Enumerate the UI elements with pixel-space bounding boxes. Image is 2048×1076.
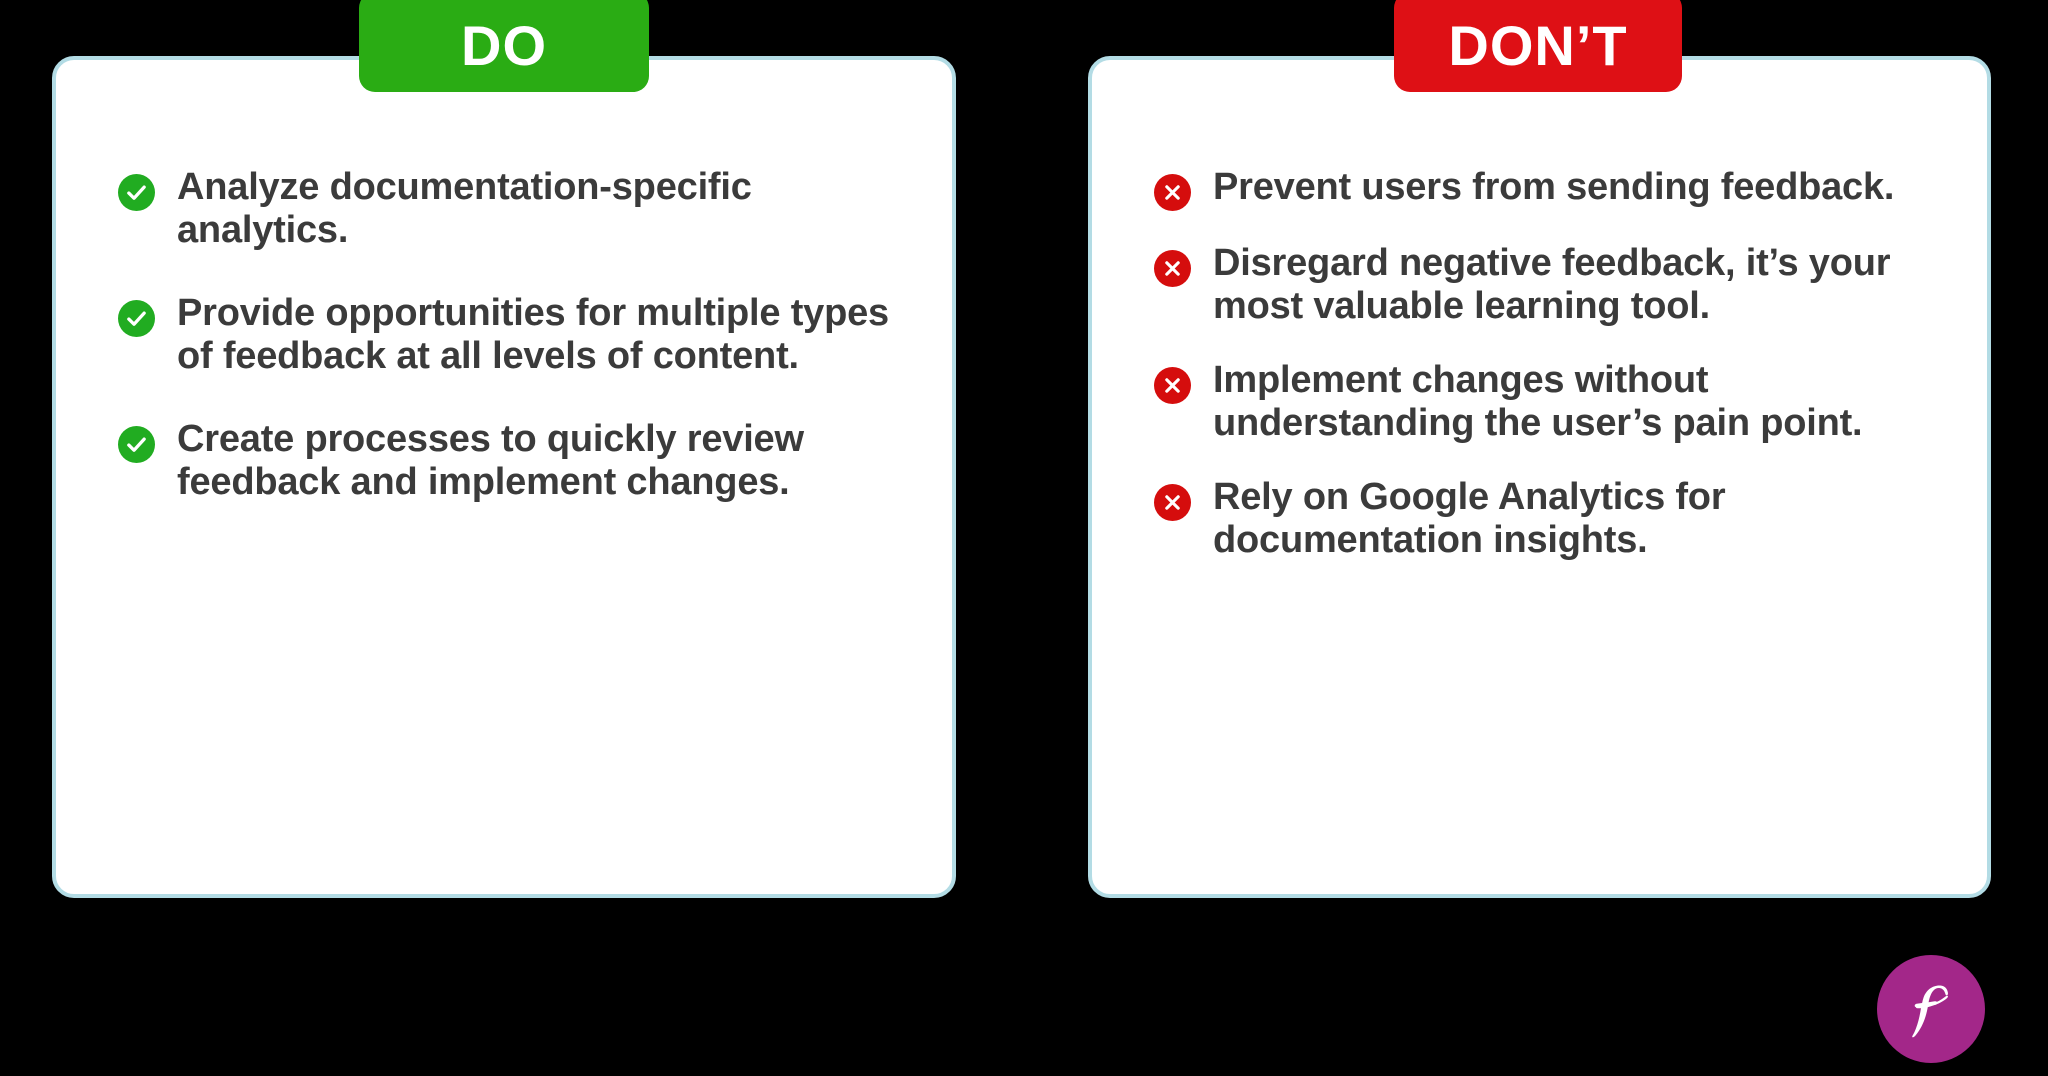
list-item: Disregard negative feedback, it’s your m… — [1154, 242, 1947, 328]
check-circle-icon — [118, 426, 155, 463]
list-item-label: Prevent users from sending feedback. — [1213, 166, 1894, 209]
list-item: Provide opportunities for multiple types… — [118, 292, 912, 378]
script-f-logo-icon — [1877, 955, 1985, 1063]
list-item-label: Provide opportunities for multiple types… — [177, 292, 897, 378]
list-item-label: Rely on Google Analytics for documentati… — [1213, 476, 1947, 562]
list-item: Create processes to quickly review feedb… — [118, 418, 912, 504]
list-item-label: Analyze documentation-specific analytics… — [177, 166, 897, 252]
list-item: Rely on Google Analytics for documentati… — [1154, 476, 1947, 562]
do-badge: DO — [359, 0, 649, 92]
list-item-label: Disregard negative feedback, it’s your m… — [1213, 242, 1947, 328]
x-circle-icon — [1154, 484, 1191, 521]
do-badge-label: DO — [461, 18, 547, 74]
do-card: Analyze documentation-specific analytics… — [52, 56, 956, 898]
dont-card: Prevent users from sending feedback. Dis… — [1088, 56, 1991, 898]
dont-badge-label: DON’T — [1448, 18, 1627, 74]
list-item: Prevent users from sending feedback. — [1154, 166, 1947, 211]
slide-canvas: Analyze documentation-specific analytics… — [0, 0, 2048, 1076]
list-item-label: Implement changes without understanding … — [1213, 359, 1947, 445]
x-circle-icon — [1154, 367, 1191, 404]
dont-badge: DON’T — [1394, 0, 1682, 92]
check-circle-icon — [118, 300, 155, 337]
x-circle-icon — [1154, 174, 1191, 211]
check-circle-icon — [118, 174, 155, 211]
dont-bullet-list: Prevent users from sending feedback. Dis… — [1154, 166, 1947, 562]
do-bullet-list: Analyze documentation-specific analytics… — [118, 166, 912, 504]
list-item-label: Create processes to quickly review feedb… — [177, 418, 897, 504]
list-item: Implement changes without understanding … — [1154, 359, 1947, 445]
x-circle-icon — [1154, 250, 1191, 287]
list-item: Analyze documentation-specific analytics… — [118, 166, 912, 252]
